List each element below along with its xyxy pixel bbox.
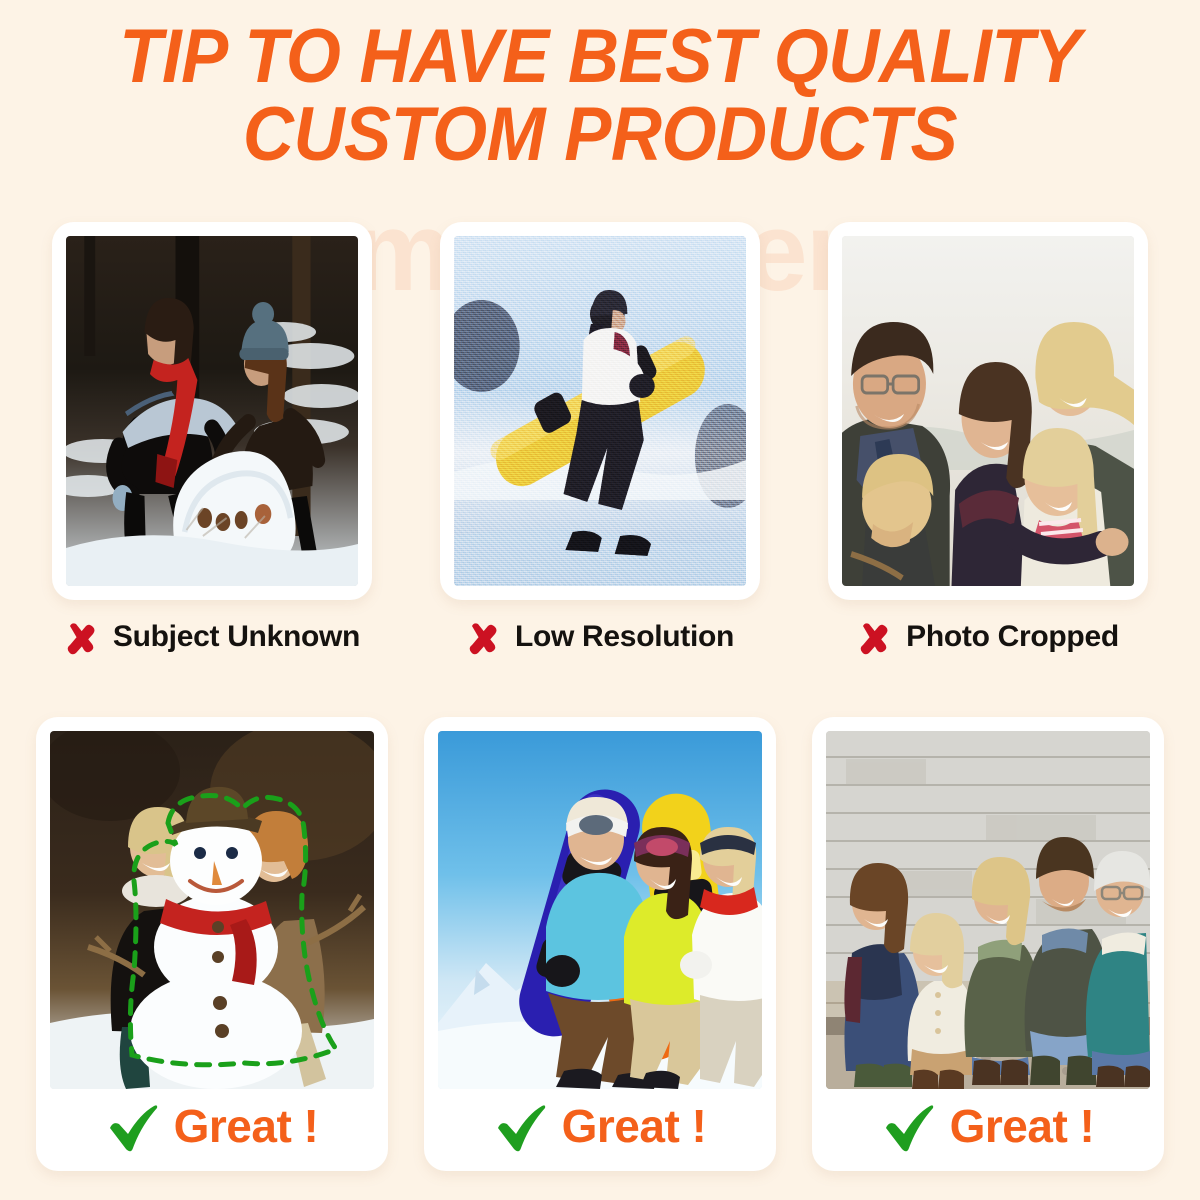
photo-great-snowman	[50, 731, 374, 1089]
label-text: Photo Cropped	[906, 620, 1119, 654]
examples-grid: Subject Unknown	[0, 222, 1200, 1171]
label-text: Subject Unknown	[113, 620, 360, 654]
photo-card: Great !	[36, 717, 388, 1171]
good-examples-row: Great !	[0, 717, 1200, 1171]
check-icon	[882, 1100, 934, 1152]
example-photo-cropped: Photo Cropped	[812, 222, 1164, 655]
photo-subject-unknown	[66, 236, 358, 586]
cross-icon	[466, 619, 502, 655]
label-low-resolution: Low Resolution	[424, 619, 776, 655]
photo-card: Great !	[812, 717, 1164, 1171]
title-line-1: TIP TO HAVE BEST QUALITY	[42, 18, 1158, 96]
photo-low-resolution	[454, 236, 746, 586]
photo-card	[52, 222, 372, 600]
photo-photo-cropped	[842, 236, 1134, 586]
photo-great-snowboarders	[438, 731, 762, 1089]
check-icon	[106, 1100, 158, 1152]
photo-great-family-barn	[826, 731, 1150, 1089]
example-great-snowman: Great !	[36, 717, 388, 1171]
label-great-family-barn: Great !	[826, 1089, 1150, 1163]
label-great-snowman: Great !	[50, 1089, 374, 1163]
page-title: TIP TO HAVE BEST QUALITY CUSTOM PRODUCTS	[0, 18, 1200, 175]
photo-card: Great !	[424, 717, 776, 1171]
photo-card	[440, 222, 760, 600]
example-great-snowboarders: Great !	[424, 717, 776, 1171]
example-subject-unknown: Subject Unknown	[36, 222, 388, 655]
label-subject-unknown: Subject Unknown	[36, 619, 388, 655]
photo-card	[828, 222, 1148, 600]
bad-examples-row: Subject Unknown	[0, 222, 1200, 655]
label-text: Great !	[562, 1099, 707, 1153]
example-great-family-barn: Great !	[812, 717, 1164, 1171]
label-text: Great !	[174, 1099, 319, 1153]
title-line-2: CUSTOM PRODUCTS	[42, 96, 1158, 174]
label-great-snowboarders: Great !	[438, 1089, 762, 1163]
cross-icon	[64, 619, 100, 655]
example-low-resolution: Low Resolution	[424, 222, 776, 655]
label-text: Great !	[950, 1099, 1095, 1153]
label-photo-cropped: Photo Cropped	[812, 619, 1164, 655]
cross-icon	[857, 619, 893, 655]
check-icon	[494, 1100, 546, 1152]
label-text: Low Resolution	[515, 620, 734, 654]
